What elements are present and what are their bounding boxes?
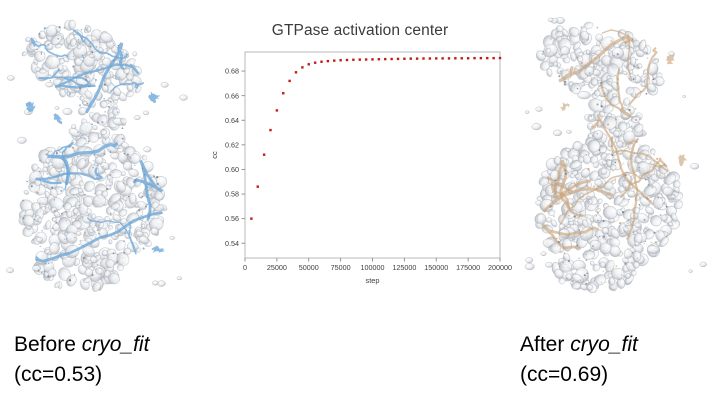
density-blob <box>110 169 122 178</box>
atom-detail <box>69 174 70 175</box>
atom-detail <box>607 123 609 125</box>
data-point <box>403 58 405 60</box>
atom-detail <box>76 220 77 221</box>
density-blob-satellite <box>17 137 26 143</box>
atom-detail <box>661 194 662 195</box>
atom-detail <box>633 78 634 79</box>
atom-detail <box>69 279 71 281</box>
atom-detail <box>56 56 58 58</box>
atom-detail <box>565 173 567 175</box>
data-point <box>346 59 348 61</box>
density-blob-satellite <box>63 108 72 115</box>
density-blob-satellite <box>177 277 182 280</box>
caption-after-program: cryo_fit <box>570 333 638 356</box>
atom-detail <box>43 248 44 249</box>
atom-detail <box>124 153 125 154</box>
atom-detail <box>108 230 109 231</box>
atom-detail <box>572 280 574 282</box>
atom-detail <box>33 183 34 184</box>
atom-detail <box>591 115 593 117</box>
atom-detail <box>54 210 56 212</box>
density-blob-satellite <box>6 268 13 273</box>
atom-detail <box>41 230 43 232</box>
atom-detail <box>633 65 635 67</box>
atom-detail <box>91 123 93 125</box>
atom-detail <box>73 233 74 234</box>
atom-detail <box>95 79 97 81</box>
atom-detail <box>115 78 116 79</box>
chart-plot-svg: 0250005000075000100000125000150000175000… <box>205 44 515 296</box>
atom-detail <box>64 230 65 231</box>
atom-detail <box>55 157 56 158</box>
atom-detail <box>632 155 634 157</box>
data-point <box>371 58 373 60</box>
atom-detail <box>639 170 641 172</box>
atom-detail <box>556 238 558 240</box>
atom-detail <box>593 66 595 68</box>
atom-detail <box>45 263 46 264</box>
atom-detail <box>564 170 566 172</box>
data-point <box>288 80 290 82</box>
atom-detail <box>670 217 671 218</box>
density-blob-satellite <box>536 107 543 112</box>
atom-detail <box>631 262 633 264</box>
atom-detail <box>65 91 66 92</box>
density-blob <box>608 78 613 81</box>
atom-detail <box>653 194 654 195</box>
atom-detail <box>81 29 82 30</box>
y-tick-label: 0.64 <box>225 116 239 125</box>
atom-detail <box>142 196 143 197</box>
atom-detail <box>58 209 59 210</box>
density-blob <box>559 224 565 230</box>
data-point <box>441 57 443 59</box>
atom-detail <box>635 244 636 245</box>
atom-detail <box>602 67 603 68</box>
atom-detail <box>123 183 124 184</box>
data-point <box>263 153 265 155</box>
atom-detail <box>79 240 81 242</box>
atom-detail <box>615 118 617 120</box>
density-blob-satellite <box>548 18 553 22</box>
atom-detail <box>592 245 593 246</box>
atom-detail <box>632 252 633 253</box>
atom-detail <box>96 46 97 47</box>
atom-detail <box>101 121 103 123</box>
atom-detail <box>568 215 570 217</box>
atom-detail <box>88 141 90 143</box>
atom-detail <box>593 185 595 187</box>
atom-detail <box>101 67 103 69</box>
atom-detail <box>36 49 38 51</box>
atom-detail <box>113 252 115 254</box>
atom-detail <box>596 215 597 216</box>
atom-detail <box>594 77 595 78</box>
atom-detail <box>613 157 615 159</box>
caption-after-prefix: After <box>520 333 570 356</box>
atom-detail <box>75 73 77 75</box>
atom-detail <box>90 72 91 73</box>
atom-detail <box>91 51 93 53</box>
atom-detail <box>117 254 118 255</box>
atom-detail <box>90 73 92 75</box>
density-blob <box>100 129 106 134</box>
atom-detail <box>44 53 45 54</box>
atom-detail <box>591 178 592 179</box>
data-point <box>384 58 386 60</box>
atom-detail <box>599 236 600 237</box>
atom-detail <box>89 69 90 70</box>
atom-detail <box>646 93 648 95</box>
atom-detail <box>604 93 606 95</box>
x-axis-label: step <box>366 276 380 285</box>
atom-detail <box>118 45 119 46</box>
atom-detail <box>666 206 668 208</box>
density-blob <box>109 240 113 245</box>
atom-detail <box>588 206 589 207</box>
atom-detail <box>84 194 86 196</box>
density-blob-satellite <box>143 111 149 115</box>
atom-detail <box>596 27 598 29</box>
caption-before-prefix: Before <box>14 333 82 356</box>
atom-detail <box>586 154 587 155</box>
atom-detail <box>49 162 50 163</box>
density-blob-satellite <box>152 281 158 285</box>
atom-detail <box>74 237 76 239</box>
data-point <box>422 57 424 59</box>
atom-detail <box>52 234 54 236</box>
atom-detail <box>581 239 582 240</box>
caption-before: Before cryo_fit (cc=0.53) <box>14 330 149 390</box>
atom-detail <box>97 165 99 167</box>
atom-detail <box>648 251 649 252</box>
atom-detail <box>553 215 555 217</box>
data-point <box>250 217 252 219</box>
atom-detail <box>619 222 621 224</box>
atom-detail <box>644 219 646 221</box>
atom-detail <box>635 94 636 95</box>
atom-detail <box>113 172 114 173</box>
atom-detail <box>93 167 94 168</box>
atom-detail <box>586 273 587 274</box>
density-blob <box>627 190 637 198</box>
atom-detail <box>659 174 661 176</box>
atom-detail <box>548 64 549 65</box>
density-blob <box>630 57 636 66</box>
atom-detail <box>135 179 137 181</box>
atom-detail <box>619 160 620 161</box>
atom-detail <box>106 188 108 190</box>
atom-detail <box>555 180 557 182</box>
atom-detail <box>606 282 607 283</box>
atom-detail <box>632 39 633 40</box>
atom-detail <box>97 182 98 183</box>
atom-detail <box>650 200 652 202</box>
atom-detail <box>611 146 613 148</box>
atom-detail <box>56 222 58 224</box>
atom-detail <box>590 210 591 211</box>
atom-detail <box>104 111 105 112</box>
density-blob-satellite <box>526 258 533 263</box>
atom-detail <box>588 201 590 203</box>
atom-detail <box>611 154 613 156</box>
atom-detail <box>577 172 578 173</box>
atom-detail <box>123 240 125 242</box>
atom-detail <box>589 72 590 73</box>
data-point <box>492 57 494 59</box>
atom-detail <box>566 278 567 279</box>
atom-detail <box>645 227 647 229</box>
atom-detail <box>591 228 593 230</box>
atom-detail <box>51 157 52 158</box>
atom-detail <box>94 193 96 195</box>
density-blob <box>83 101 87 105</box>
x-tick-label: 25000 <box>267 263 287 272</box>
data-point <box>257 185 259 187</box>
atom-detail <box>41 272 42 273</box>
density-blob-satellite <box>144 147 152 152</box>
density-blob <box>650 149 655 155</box>
atom-detail <box>591 58 592 59</box>
atom-detail <box>580 218 581 219</box>
atom-detail <box>652 78 654 80</box>
atom-detail <box>116 261 118 263</box>
atom-detail <box>63 57 64 58</box>
y-axis-label: cc <box>210 151 219 159</box>
atom-detail <box>104 84 106 86</box>
atom-detail <box>85 232 86 233</box>
atom-detail <box>577 88 578 89</box>
atom-detail <box>88 76 89 77</box>
atom-detail <box>611 91 612 92</box>
atom-detail <box>88 86 90 88</box>
atom-detail <box>34 61 36 63</box>
atom-detail <box>108 54 109 55</box>
atom-detail <box>639 144 640 145</box>
atom-detail <box>579 258 580 259</box>
density-blob <box>622 71 628 76</box>
atom-detail <box>118 76 120 78</box>
x-tick-label: 0 <box>243 263 247 272</box>
atom-detail <box>60 71 61 72</box>
density-blob-satellite <box>134 115 140 119</box>
atom-detail <box>612 169 614 171</box>
atom-detail <box>603 220 605 222</box>
atom-detail <box>46 153 48 155</box>
atom-detail <box>93 154 95 156</box>
atom-detail <box>138 209 140 211</box>
density-blob-satellite <box>532 123 541 130</box>
atom-detail <box>655 242 656 243</box>
atom-detail <box>31 185 33 187</box>
atom-detail <box>38 270 40 272</box>
atom-detail <box>99 99 101 101</box>
cryo-em-density-map-after-svg <box>518 8 713 293</box>
atom-detail <box>128 196 130 198</box>
data-point <box>282 92 284 94</box>
atom-detail <box>552 191 554 193</box>
y-tick-label: 0.58 <box>225 190 239 199</box>
atom-detail <box>626 158 628 160</box>
atom-detail <box>110 151 111 152</box>
data-point <box>269 129 271 131</box>
atom-detail <box>63 205 65 207</box>
atom-detail <box>644 76 645 77</box>
data-point <box>473 57 475 59</box>
atom-detail <box>141 197 142 198</box>
atom-detail <box>617 78 619 80</box>
atom-detail <box>577 43 578 44</box>
atom-detail <box>22 217 24 219</box>
atom-detail <box>674 195 675 196</box>
atom-detail <box>44 271 45 272</box>
cryo-em-density-map-before-svg <box>2 8 197 293</box>
atom-detail <box>615 265 617 267</box>
atom-detail <box>60 190 62 192</box>
atom-detail <box>125 207 126 208</box>
atom-detail <box>135 60 136 61</box>
atom-detail <box>658 231 659 232</box>
data-point <box>314 61 316 63</box>
x-tick-label: 175000 <box>456 263 480 272</box>
atom-detail <box>587 168 589 170</box>
atom-detail <box>78 205 79 206</box>
backbone-ribbon <box>150 95 156 102</box>
atom-detail <box>113 60 115 62</box>
atom-detail <box>66 220 68 222</box>
atom-detail <box>64 238 66 240</box>
atom-detail <box>39 171 40 172</box>
atom-detail <box>560 70 562 72</box>
atom-detail <box>644 243 645 244</box>
atom-detail <box>635 59 636 60</box>
atom-detail <box>119 230 121 232</box>
atom-detail <box>666 235 668 237</box>
atom-detail <box>109 58 110 59</box>
atom-detail <box>592 215 593 216</box>
atom-detail <box>601 105 603 107</box>
backbone-ribbon <box>562 104 569 111</box>
density-blob-satellite <box>683 95 686 97</box>
y-tick-label: 0.56 <box>225 214 239 223</box>
atom-detail <box>82 134 84 136</box>
atom-detail <box>624 174 625 175</box>
atom-detail <box>620 129 621 130</box>
atom-detail <box>51 187 53 189</box>
data-point <box>416 57 418 59</box>
plot-frame <box>245 52 500 258</box>
atom-detail <box>631 126 632 127</box>
atom-detail <box>592 35 593 36</box>
density-blob <box>89 54 95 58</box>
atom-detail <box>645 179 647 181</box>
atom-detail <box>620 230 621 231</box>
x-tick-label: 100000 <box>361 263 385 272</box>
atom-detail <box>66 238 68 240</box>
atom-detail <box>640 198 641 199</box>
atom-detail <box>125 232 127 234</box>
structure-image-after <box>518 8 713 293</box>
density-blob <box>92 125 98 130</box>
atom-detail <box>122 225 123 226</box>
atom-detail <box>128 230 130 232</box>
density-blob <box>23 190 29 195</box>
data-point <box>352 59 354 61</box>
atom-detail <box>87 261 89 263</box>
atom-detail <box>99 85 101 87</box>
y-tick-label: 0.68 <box>225 67 239 76</box>
density-blob <box>132 51 137 57</box>
atom-detail <box>26 181 28 183</box>
atom-detail <box>573 239 575 241</box>
atom-detail <box>629 149 630 150</box>
density-blob <box>537 214 546 225</box>
atom-detail <box>153 175 155 177</box>
atom-detail <box>84 138 86 140</box>
atom-detail <box>130 157 132 159</box>
density-blob <box>653 197 663 209</box>
backbone-ribbon <box>55 114 61 122</box>
density-blob <box>546 68 553 77</box>
atom-detail <box>642 229 643 230</box>
atom-detail <box>573 224 574 225</box>
data-point <box>461 57 463 59</box>
y-tick-label: 0.60 <box>225 165 239 174</box>
atom-detail <box>112 276 113 277</box>
atom-detail <box>56 31 57 32</box>
atom-detail <box>77 96 78 97</box>
density-blob <box>83 277 92 284</box>
atom-detail <box>82 55 83 56</box>
atom-detail <box>597 212 599 214</box>
atom-detail <box>602 174 603 175</box>
atom-detail <box>83 257 85 259</box>
atom-detail <box>637 258 638 259</box>
atom-detail <box>641 91 642 92</box>
atom-detail <box>628 220 630 222</box>
density-blob-satellite <box>689 270 693 273</box>
atom-detail <box>69 37 70 38</box>
atom-detail <box>53 275 54 276</box>
data-point <box>276 109 278 111</box>
atom-detail <box>87 103 88 104</box>
density-blob-satellite <box>545 262 552 267</box>
data-point <box>301 66 303 68</box>
atom-detail <box>551 209 552 210</box>
atom-detail <box>157 183 159 185</box>
atom-detail <box>73 194 75 196</box>
atom-detail <box>589 53 590 54</box>
atom-detail <box>635 119 637 121</box>
atom-detail <box>599 41 601 43</box>
data-point <box>359 58 361 60</box>
atom-detail <box>586 254 587 255</box>
atom-detail <box>562 261 564 263</box>
atom-detail <box>568 260 570 262</box>
atom-detail <box>102 166 103 167</box>
atom-detail <box>39 33 41 35</box>
atom-detail <box>62 186 63 187</box>
backbone-ribbon <box>679 157 684 165</box>
atom-detail <box>628 188 629 189</box>
atom-detail <box>146 204 148 206</box>
density-blob <box>633 261 640 268</box>
y-tick-label: 0.62 <box>225 140 239 149</box>
atom-detail <box>39 246 41 248</box>
atom-detail <box>75 85 76 86</box>
density-blob-satellite <box>161 82 168 87</box>
atom-detail <box>564 83 566 85</box>
